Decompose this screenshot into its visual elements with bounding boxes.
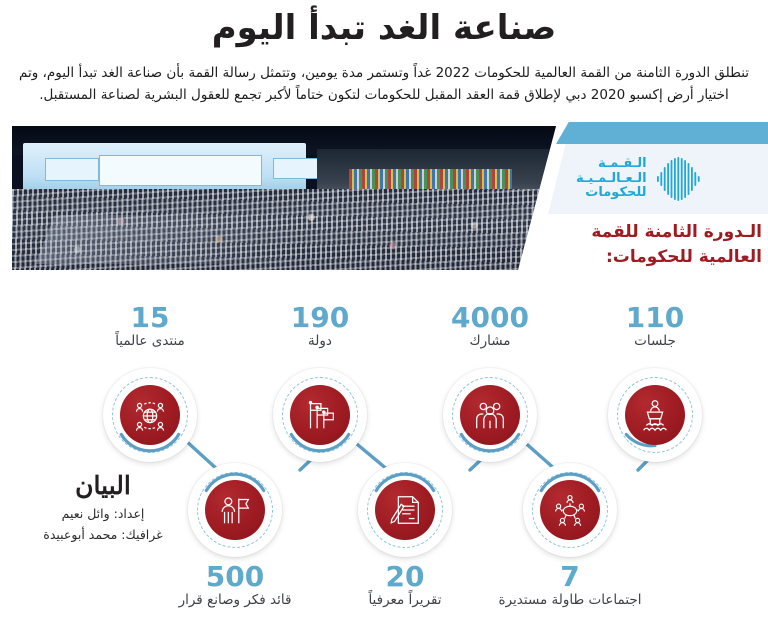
credit-editor: إعداد: وائل نعيم bbox=[18, 506, 188, 521]
stat-countries: 190 دولة bbox=[245, 303, 395, 349]
node-leaders[interactable] bbox=[188, 463, 282, 557]
node-disc bbox=[205, 480, 265, 540]
stat-label: تقريراً معرفياً bbox=[330, 592, 480, 608]
photo-side-screen-right bbox=[273, 158, 322, 180]
infographic-page: صناعة الغد تبدأ اليوم تنطلق الدورة الثام… bbox=[0, 0, 768, 632]
stat-forums: 15 منتدى عالمياً bbox=[75, 303, 225, 349]
node-forums[interactable] bbox=[103, 368, 197, 462]
node-sessions[interactable] bbox=[608, 368, 702, 462]
stat-label: مشارك bbox=[415, 333, 565, 349]
credit-graphics: غرافيك: محمد أبوعبيدة bbox=[18, 527, 188, 542]
stat-value: 110 bbox=[580, 303, 730, 332]
wgs-logo-line-2: الـعـالـمـيـة bbox=[576, 172, 647, 187]
accent-band bbox=[556, 122, 768, 144]
stat-value: 20 bbox=[330, 562, 480, 591]
credits-block: البيان إعداد: وائل نعيم غرافيك: محمد أبو… bbox=[18, 472, 188, 542]
wgs-logo-text: الـقـمـة الـعـالـمـيـة للحكومات bbox=[576, 157, 647, 201]
stat-label: جلسات bbox=[580, 333, 730, 349]
stat-label: منتدى عالمياً bbox=[75, 333, 225, 349]
panel-title: الـدورة الثامنة للقمة العالمية للحكومات: bbox=[556, 220, 762, 269]
stat-value: 4000 bbox=[415, 303, 565, 332]
stat-value: 190 bbox=[245, 303, 395, 332]
publisher-logo: البيان bbox=[18, 472, 188, 500]
panel-title-line-2: العالمية للحكومات: bbox=[556, 245, 762, 270]
conference-photo bbox=[8, 122, 560, 274]
node-disc bbox=[625, 385, 685, 445]
panel-title-line-1: الـدورة الثامنة للقمة bbox=[556, 220, 762, 245]
stat-sessions: 110 جلسات bbox=[580, 303, 730, 349]
wgs-logo: الـقـمـة الـعـالـمـيـة للحكومات bbox=[576, 150, 762, 208]
page-title: صناعة الغد تبدأ اليوم bbox=[0, 8, 768, 48]
stat-value: 7 bbox=[495, 562, 645, 591]
globe-people-icon bbox=[131, 396, 169, 434]
stat-participants: 4000 مشارك bbox=[415, 303, 565, 349]
node-disc bbox=[290, 385, 350, 445]
stat-reports: 20 تقريراً معرفياً bbox=[330, 562, 480, 608]
wgs-soundwave-icon bbox=[655, 156, 703, 202]
stat-label: دولة bbox=[245, 333, 395, 349]
node-disc bbox=[120, 385, 180, 445]
podium-speaker-icon bbox=[636, 396, 674, 434]
conference-photo-image bbox=[12, 126, 556, 270]
node-reports[interactable] bbox=[358, 463, 452, 557]
node-countries[interactable] bbox=[273, 368, 367, 462]
photo-side-screen-left bbox=[45, 158, 99, 181]
node-participants[interactable] bbox=[443, 368, 537, 462]
stat-leaders: 500 قائد فكر وصانع قرار bbox=[160, 562, 310, 608]
node-disc bbox=[375, 480, 435, 540]
stat-label: اجتماعات طاولة مستديرة bbox=[495, 592, 645, 608]
flags-icon bbox=[301, 396, 339, 434]
intro-paragraph: تنطلق الدورة الثامنة من القمة العالمية ل… bbox=[14, 62, 754, 107]
stat-label: قائد فكر وصانع قرار bbox=[160, 592, 310, 608]
wgs-logo-line-3: للحكومات bbox=[576, 186, 647, 201]
stat-value: 500 bbox=[160, 562, 310, 591]
document-pen-icon bbox=[386, 491, 424, 529]
node-roundtables[interactable] bbox=[523, 463, 617, 557]
roundtable-icon bbox=[551, 491, 589, 529]
stat-value: 15 bbox=[75, 303, 225, 332]
node-disc bbox=[540, 480, 600, 540]
stat-roundtables: 7 اجتماعات طاولة مستديرة bbox=[495, 562, 645, 608]
photo-main-screen bbox=[99, 155, 262, 187]
group-people-icon bbox=[471, 396, 509, 434]
leader-flag-icon bbox=[216, 491, 254, 529]
wgs-logo-line-1: الـقـمـة bbox=[576, 157, 647, 172]
photo-aisle bbox=[35, 215, 305, 264]
node-disc bbox=[460, 385, 520, 445]
